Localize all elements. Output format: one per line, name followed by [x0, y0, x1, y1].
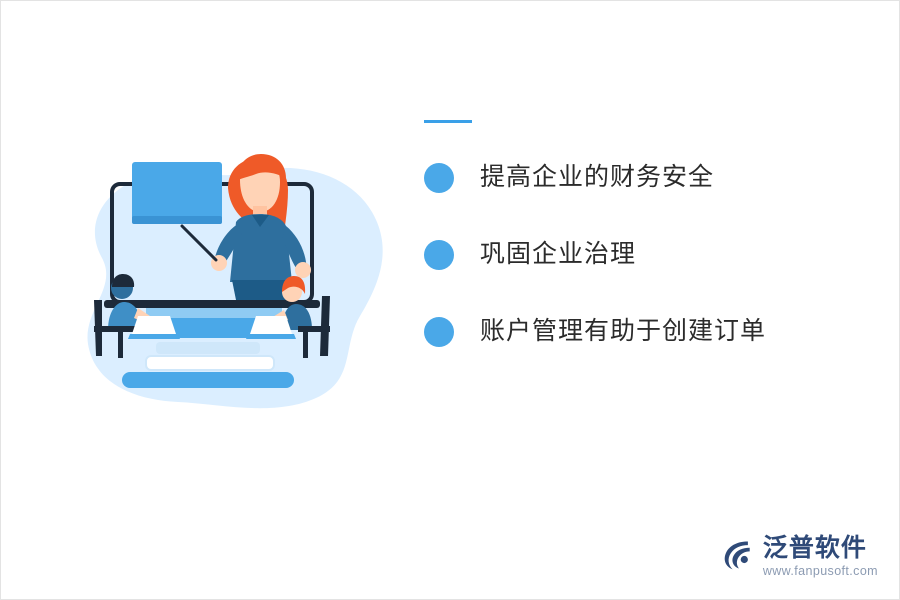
- list-item: 账户管理有助于创建订单: [424, 317, 844, 347]
- list-item-label: 提高企业的财务安全: [480, 164, 714, 192]
- bullet-dot-icon: [424, 163, 454, 193]
- list-item-label: 账户管理有助于创建订单: [480, 318, 766, 346]
- bullet-list: 提高企业的财务安全 巩固企业治理 账户管理有助于创建订单: [424, 120, 844, 347]
- book-base-top: [156, 342, 260, 354]
- laptop-left: [132, 316, 176, 334]
- list-item: 巩固企业治理: [424, 240, 844, 270]
- laptop-right: [250, 316, 292, 334]
- desk-surface: [104, 300, 320, 308]
- bullet-dot-icon: [424, 240, 454, 270]
- bullet-dot-icon: [424, 317, 454, 347]
- illustration-svg: [60, 130, 400, 430]
- screen-content-shadow: [132, 216, 222, 224]
- logo-name: 泛普软件: [763, 535, 867, 561]
- list-item: 提高企业的财务安全: [424, 163, 844, 193]
- logo-url: www.fanpusoft.com: [763, 564, 878, 578]
- screen-content: [132, 162, 222, 224]
- list-item-label: 巩固企业治理: [480, 241, 636, 269]
- classroom-presentation-illustration: [60, 130, 400, 430]
- logo-mark-icon: [720, 537, 756, 573]
- book-base-mid: [146, 356, 274, 370]
- brand-logo: 泛普软件 www.fanpusoft.com: [720, 535, 878, 578]
- accent-rule: [424, 120, 472, 123]
- book-base-bottom: [122, 372, 294, 388]
- teacher-hand-right: [295, 262, 311, 278]
